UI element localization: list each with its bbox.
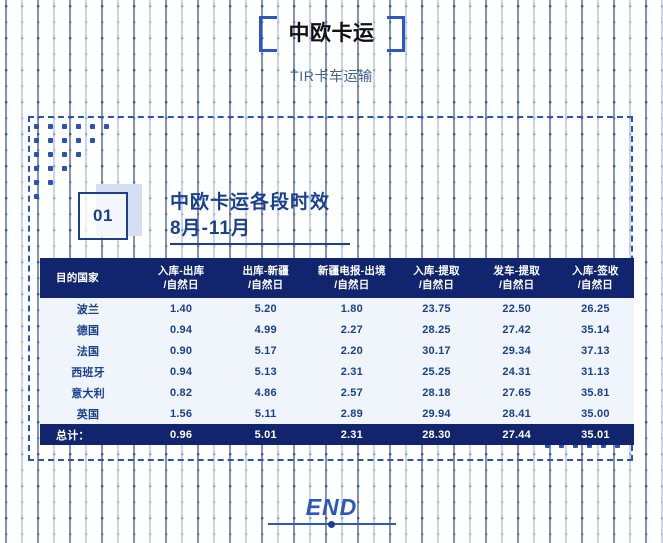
table-header-row: 目的国家入库-出库/自然日出库-新疆/自然日新疆电报-出境/自然日入库-提取/自…	[40, 258, 634, 298]
cell-value: 27.42	[477, 319, 557, 340]
cell-value: 35.01	[557, 424, 634, 445]
badge-number: 01	[93, 206, 113, 226]
end-label: END	[0, 494, 663, 520]
cell-value: 22.50	[477, 298, 557, 319]
cell-country: 西班牙	[40, 361, 138, 382]
cell-value: 31.13	[557, 361, 634, 382]
brand-logo: 中欧卡运	[0, 16, 663, 52]
bracket-bottom-left-icon	[259, 34, 277, 52]
badge-box: 01	[78, 192, 128, 240]
logo-bracket-frame: 中欧卡运	[255, 16, 409, 52]
transit-time-table: 目的国家入库-出库/自然日出库-新疆/自然日新疆电报-出境/自然日入库-提取/自…	[40, 258, 634, 445]
cell-value: 2.57	[307, 382, 396, 403]
cell-country: 总计：	[40, 424, 138, 445]
bracket-top-right-icon	[387, 16, 405, 34]
bracket-top-left-icon	[259, 16, 277, 34]
cell-value: 27.44	[477, 424, 557, 445]
cell-value: 5.11	[224, 403, 307, 424]
cell-value: 37.13	[557, 340, 634, 361]
column-header-line-1: 入库-提取	[398, 264, 474, 278]
cell-value: 28.41	[477, 403, 557, 424]
column-header-line-1: 入库-出库	[140, 264, 222, 278]
cell-value: 28.30	[396, 424, 476, 445]
table-row: 波兰1.405.201.8023.7522.5026.25	[40, 298, 634, 319]
table-column-header: 出库-新疆/自然日	[224, 258, 307, 298]
cell-value: 1.40	[138, 298, 224, 319]
column-header-line-1: 发车-提取	[479, 264, 555, 278]
table-column-header: 发车-提取/自然日	[477, 258, 557, 298]
headline-underline	[170, 243, 350, 245]
cell-value: 0.94	[138, 361, 224, 382]
cell-value: 24.31	[477, 361, 557, 382]
table-column-header: 入库-提取/自然日	[396, 258, 476, 298]
content-card: 01 中欧卡运各段时效 8月-11月 目的国家入库-出库/自然日出库-新疆/自然…	[28, 116, 633, 461]
column-header-line-1: 新疆电报-出境	[309, 264, 394, 278]
cell-value: 27.65	[477, 382, 557, 403]
table-row: 英国1.565.112.8929.9428.4135.00	[40, 403, 634, 424]
section-headline: 中欧卡运各段时效 8月-11月	[170, 190, 530, 242]
column-header-line-2: /自然日	[398, 278, 474, 292]
column-header-line-2: /自然日	[309, 278, 394, 292]
cell-value: 0.82	[138, 382, 224, 403]
cell-value: 35.14	[557, 319, 634, 340]
end-dot-icon	[328, 521, 335, 528]
cell-value: 29.34	[477, 340, 557, 361]
cell-value: 29.94	[396, 403, 476, 424]
cell-value: 0.90	[138, 340, 224, 361]
cell-value: 4.86	[224, 382, 307, 403]
cell-value: 5.13	[224, 361, 307, 382]
footer-end: END	[0, 494, 663, 525]
transit-time-table-wrapper: 目的国家入库-出库/自然日出库-新疆/自然日新疆电报-出境/自然日入库-提取/自…	[40, 258, 634, 445]
column-header-line-2: /自然日	[226, 278, 305, 292]
column-header-line-1: 出库-新疆	[226, 264, 305, 278]
cell-value: 2.31	[307, 361, 396, 382]
cell-country: 意大利	[40, 382, 138, 403]
cell-value: 1.80	[307, 298, 396, 319]
table-total-row: 总计：0.965.012.3128.3027.4435.01	[40, 424, 634, 445]
cell-value: 2.27	[307, 319, 396, 340]
column-header-line-2: /自然日	[559, 278, 632, 292]
headline-line-2: 8月-11月	[170, 216, 530, 242]
cell-value: 25.25	[396, 361, 476, 382]
cell-country: 法国	[40, 340, 138, 361]
headline-line-1: 中欧卡运各段时效	[170, 190, 530, 216]
cell-value: 0.94	[138, 319, 224, 340]
cell-value: 35.00	[557, 403, 634, 424]
table-header: 目的国家入库-出库/自然日出库-新疆/自然日新疆电报-出境/自然日入库-提取/自…	[40, 258, 634, 298]
table-row: 德国0.944.992.2728.2527.4235.14	[40, 319, 634, 340]
cell-value: 4.99	[224, 319, 307, 340]
column-header-line-2: /自然日	[479, 278, 555, 292]
section-number-badge: 01	[78, 184, 142, 242]
logo-text: 中欧卡运	[289, 22, 375, 45]
cell-value: 35.81	[557, 382, 634, 403]
table-row: 法国0.905.172.2030.1729.3437.13	[40, 340, 634, 361]
cell-value: 30.17	[396, 340, 476, 361]
cell-country: 波兰	[40, 298, 138, 319]
cell-value: 5.17	[224, 340, 307, 361]
table-column-header: 新疆电报-出境/自然日	[307, 258, 396, 298]
cell-value: 2.89	[307, 403, 396, 424]
table-body: 波兰1.405.201.8023.7522.5026.25德国0.944.992…	[40, 298, 634, 445]
cell-country: 德国	[40, 319, 138, 340]
cell-value: 2.20	[307, 340, 396, 361]
cell-value: 23.75	[396, 298, 476, 319]
table-column-header: 入库-签收/自然日	[557, 258, 634, 298]
end-rule	[268, 523, 396, 525]
cell-value: 26.25	[557, 298, 634, 319]
table-row: 意大利0.824.862.5728.1827.6535.81	[40, 382, 634, 403]
cell-value: 5.01	[224, 424, 307, 445]
cell-value: 0.96	[138, 424, 224, 445]
table-column-header: 入库-出库/自然日	[138, 258, 224, 298]
bracket-bottom-right-icon	[387, 34, 405, 52]
table-column-header: 目的国家	[40, 258, 138, 298]
cell-value: 1.56	[138, 403, 224, 424]
cell-value: 28.25	[396, 319, 476, 340]
table-row: 西班牙0.945.132.3125.2524.3131.13	[40, 361, 634, 382]
cell-country: 英国	[40, 403, 138, 424]
cell-value: 5.20	[224, 298, 307, 319]
cell-value: 28.18	[396, 382, 476, 403]
page-subtitle: TIR卡车运输	[0, 66, 663, 86]
column-header-line-1: 入库-签收	[559, 264, 632, 278]
column-header-line-2: /自然日	[140, 278, 222, 292]
column-header-line-1: 目的国家	[56, 271, 136, 285]
cell-value: 2.31	[307, 424, 396, 445]
